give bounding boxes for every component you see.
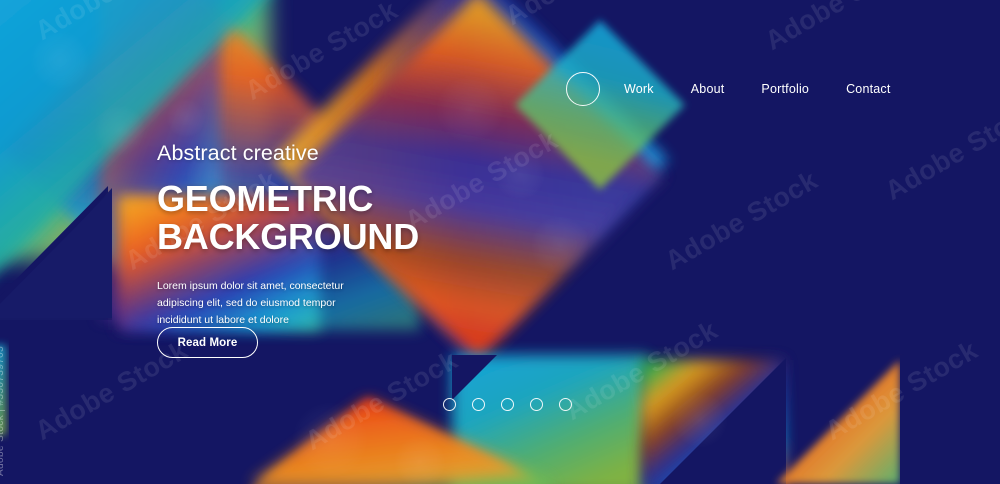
hero-headline: GEOMETRIC BACKGROUND bbox=[157, 180, 577, 256]
carousel-dot-1[interactable] bbox=[443, 398, 456, 411]
hero-headline-line1: GEOMETRIC bbox=[157, 178, 373, 219]
nav-link-portfolio[interactable]: Portfolio bbox=[761, 82, 809, 96]
carousel-dot-3[interactable] bbox=[501, 398, 514, 411]
watermark-text: Adobe Stock bbox=[300, 345, 463, 457]
carousel-dot-4[interactable] bbox=[530, 398, 543, 411]
nav-link-contact[interactable]: Contact bbox=[846, 82, 890, 96]
nav-link-about[interactable]: About bbox=[691, 82, 725, 96]
hero-eyebrow: Abstract creative bbox=[157, 142, 577, 166]
circle-logo-icon[interactable] bbox=[566, 72, 600, 106]
nav-links: Work About Portfolio Contact bbox=[624, 82, 891, 96]
watermark-text: Adobe Stock bbox=[760, 0, 923, 57]
watermark-text: Adobe Stock bbox=[820, 335, 983, 447]
hero-headline-line2: BACKGROUND bbox=[157, 218, 577, 256]
read-more-button[interactable]: Read More bbox=[157, 327, 258, 358]
carousel-dots bbox=[443, 398, 572, 411]
watermark-text: Adobe Stock bbox=[880, 95, 1000, 207]
carousel-dot-5[interactable] bbox=[559, 398, 572, 411]
watermark-credit: Adobe Stock | #550739705 bbox=[0, 346, 6, 476]
watermark-text: Adobe Stock bbox=[30, 0, 193, 47]
hero-subtext: Lorem ipsum dolor sit amet, consectetur … bbox=[157, 278, 367, 329]
nav-link-work[interactable]: Work bbox=[624, 82, 654, 96]
carousel-dot-2[interactable] bbox=[472, 398, 485, 411]
hero-canvas: Work About Portfolio Contact Abstract cr… bbox=[0, 0, 1000, 484]
main-navigation: Work About Portfolio Contact bbox=[566, 70, 891, 108]
watermark-text: Adobe Stock bbox=[660, 165, 823, 277]
watermark-text: Adobe Stock bbox=[560, 315, 723, 427]
hero-text-block: Abstract creative GEOMETRIC BACKGROUND L… bbox=[157, 142, 577, 329]
watermark-text: Adobe Stock bbox=[500, 0, 663, 32]
watermark-text: Adobe Stock bbox=[240, 0, 403, 107]
